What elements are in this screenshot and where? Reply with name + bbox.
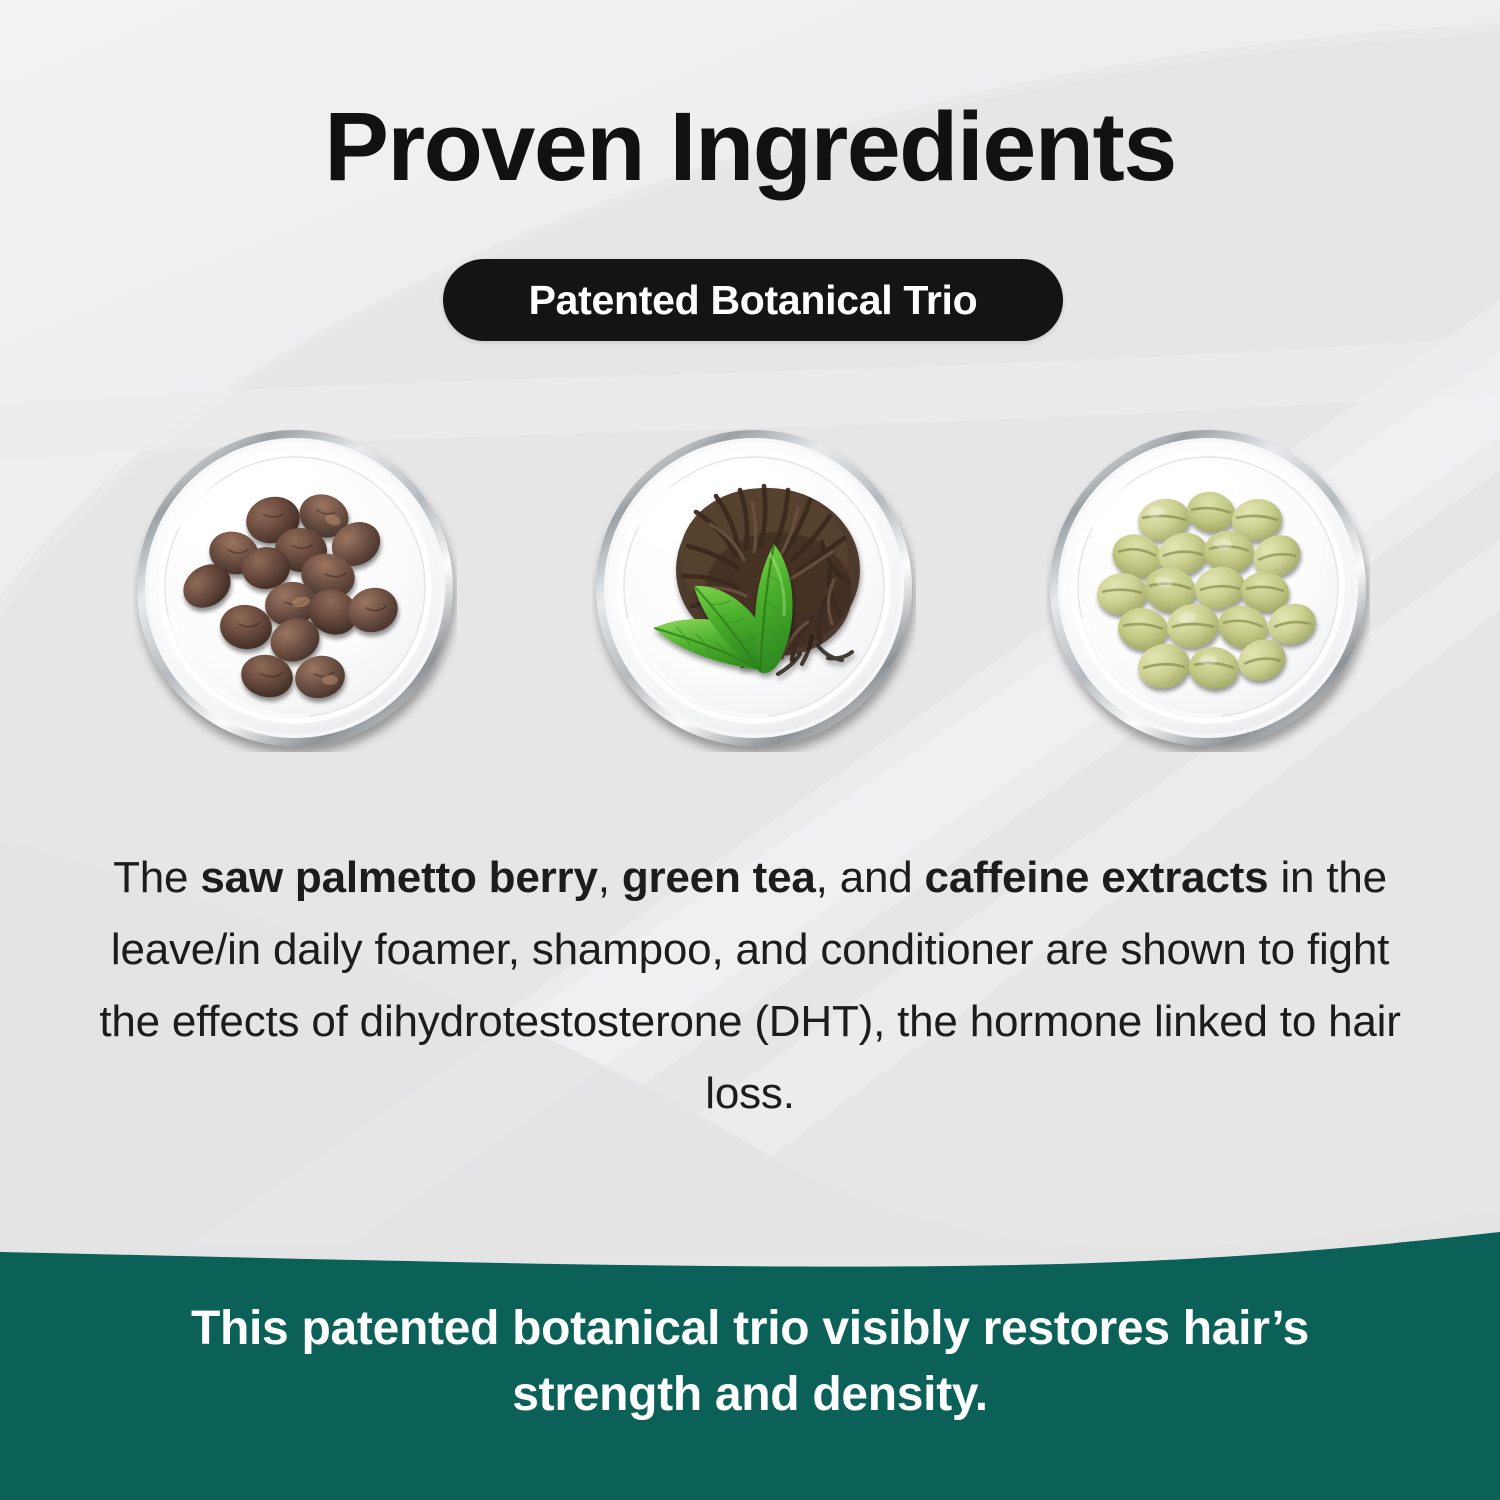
desc-seg-2: , <box>598 853 622 902</box>
petri-dish-green-tea-leaves <box>592 428 916 752</box>
petri-dish-saw-palmetto-berries <box>133 428 457 752</box>
desc-seg-5: caffeine extracts <box>925 853 1269 902</box>
patented-trio-badge: Patented Botanical Trio <box>443 259 1063 341</box>
desc-seg-4: , and <box>816 853 925 902</box>
product-infographic: Proven Ingredients Patented Botanical Tr… <box>0 0 1500 1500</box>
petri-dish-green-coffee-beans <box>1046 428 1370 752</box>
footer-headline: This patented botanical trio visibly res… <box>100 1296 1400 1428</box>
page-title: Proven Ingredients <box>0 96 1500 198</box>
ingredient-dish-row <box>0 428 1500 758</box>
badge-label: Patented Botanical Trio <box>529 277 978 324</box>
desc-seg-1: saw palmetto berry <box>200 853 597 902</box>
desc-seg-3: green tea <box>622 853 816 902</box>
desc-seg-0: The <box>113 853 200 902</box>
ingredient-description: The saw palmetto berry, green tea, and c… <box>90 842 1410 1130</box>
footer-banner: This patented botanical trio visibly res… <box>0 1230 1500 1500</box>
